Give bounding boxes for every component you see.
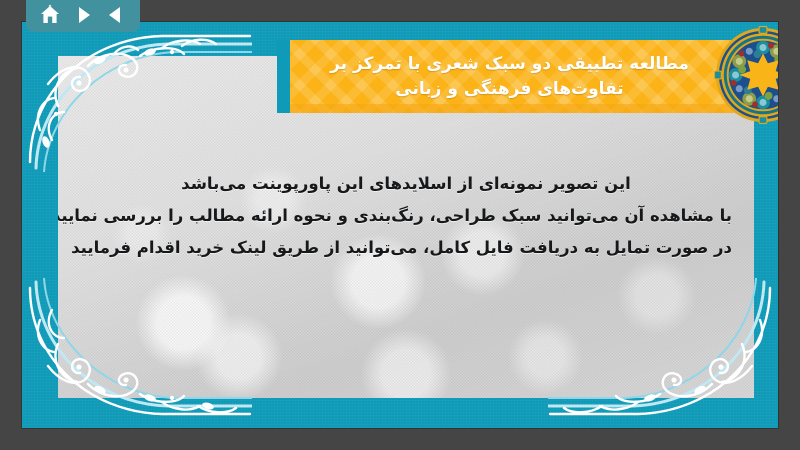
- slide-title-banner: مطالعه تطبیقی دو سبک شعری با تمرکز بر تف…: [290, 40, 745, 113]
- next-slide-button[interactable]: [70, 2, 96, 28]
- home-icon: [38, 3, 62, 27]
- banner-left-tab: [277, 40, 291, 113]
- persian-mandala-medallion: [714, 26, 778, 124]
- body-line-1: این تصویر نمونه‌ای از اسلایدهای این پاور…: [80, 168, 732, 200]
- body-line-3: در صورت تمایل به دریافت فایل کامل، می‌تو…: [80, 232, 732, 264]
- left-arrow-icon: [105, 4, 127, 26]
- slide-body-text: این تصویر نمونه‌ای از اسلایدهای این پاور…: [58, 168, 754, 265]
- slide-frame: این تصویر نمونه‌ای از اسلایدهای این پاور…: [22, 22, 778, 428]
- home-button[interactable]: [37, 2, 63, 28]
- right-arrow-icon: [72, 4, 94, 26]
- navigation-bar: [26, 0, 140, 32]
- body-line-2: با مشاهده آن می‌توانید سبک طراحی، رنگ‌بن…: [80, 200, 732, 232]
- page-title: مطالعه تطبیقی دو سبک شعری با تمرکز بر تف…: [312, 52, 723, 101]
- previous-slide-button[interactable]: [103, 2, 129, 28]
- slide-viewer: این تصویر نمونه‌ای از اسلایدهای این پاور…: [0, 0, 800, 450]
